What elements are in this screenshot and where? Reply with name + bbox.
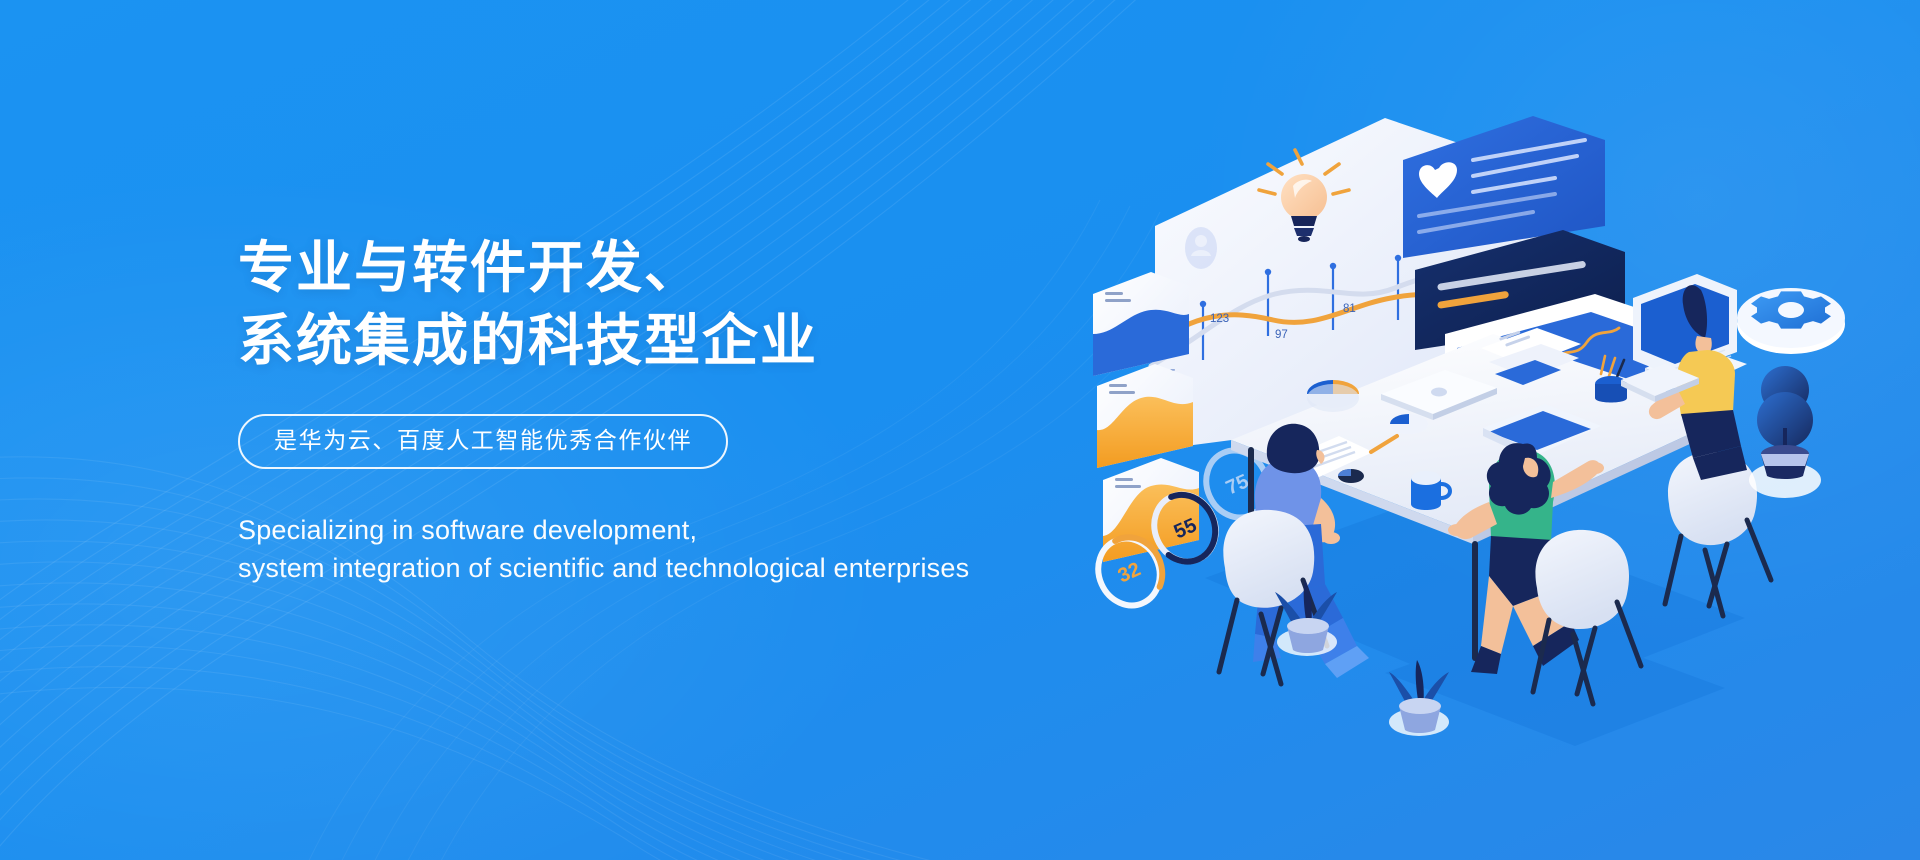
hero-banner: 专业与转件开发、 系统集成的科技型企业 是华为云、百度人工智能优秀合作伙伴 Sp… [0,0,1920,860]
gauge-value-32: 32 [1115,558,1144,587]
pie-chart-icon [1307,380,1359,412]
pie-chart-mini-icon [1338,469,1364,483]
subtitle: Specializing in software development, sy… [238,511,1198,588]
subtitle-line-1: Specializing in software development, [238,511,1198,549]
hero-copy: 专业与转件开发、 系统集成的科技型企业 是华为云、百度人工智能优秀合作伙伴 Sp… [238,232,1198,614]
isometric-illustration: 123 97 81 65 [1085,98,1885,778]
headline-line-1: 专业与转件开发、 [238,232,1198,305]
page-title: 专业与转件开发、 系统集成的科技型企业 [238,232,1198,378]
headline-line-2: 系统集成的科技型企业 [238,305,1198,378]
mini-card-2 [1097,364,1193,468]
gear-icon [1737,288,1845,354]
pie-chart-small-icon [1390,414,1428,434]
partner-badge: 是华为云、百度人工智能优秀合作伙伴 [238,414,728,469]
chart-label-81: 81 [1343,303,1356,315]
chart-label-123: 123 [1210,313,1229,325]
gauge-value-75: 75 [1223,470,1252,499]
avatar-icon [1185,227,1217,269]
subtitle-line-2: system integration of scientific and tec… [238,549,1198,587]
plant-icon [1749,366,1821,498]
chart-label-97: 97 [1275,329,1288,341]
